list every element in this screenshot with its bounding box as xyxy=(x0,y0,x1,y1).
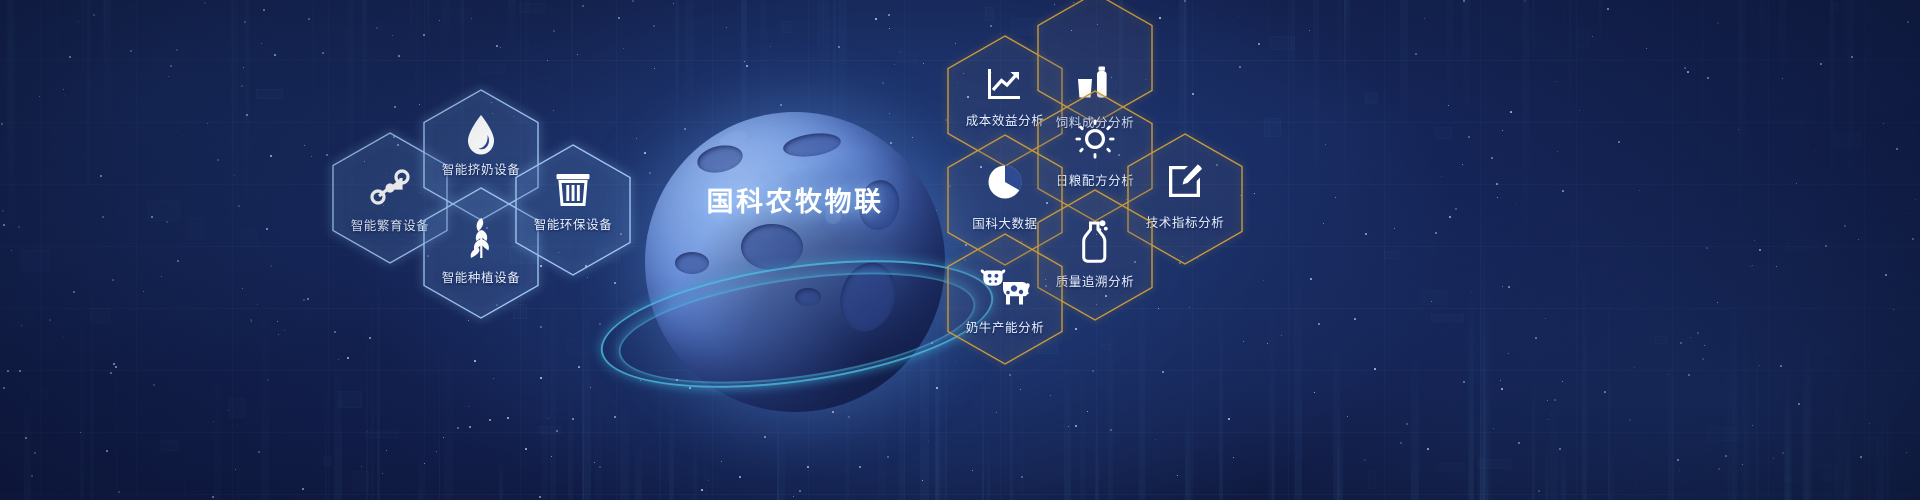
recycle-bin-icon xyxy=(514,170,632,213)
hex-smart-environmental-equipment[interactable]: 智能环保设备 xyxy=(514,143,632,277)
iot-banner: 国科农牧物联 智能繁育设备 智能挤奶设备 xyxy=(0,0,1920,500)
page-title: 国科农牧物联 xyxy=(645,180,945,219)
hex-label: 智能环保设备 xyxy=(498,214,648,233)
dairy-cow-icon xyxy=(946,266,1064,311)
planet-graphic xyxy=(645,112,945,412)
hex-label: 奶牛产能分析 xyxy=(930,317,1080,336)
hex-dairy-cow-capacity-analysis[interactable]: 奶牛产能分析 xyxy=(946,232,1064,366)
